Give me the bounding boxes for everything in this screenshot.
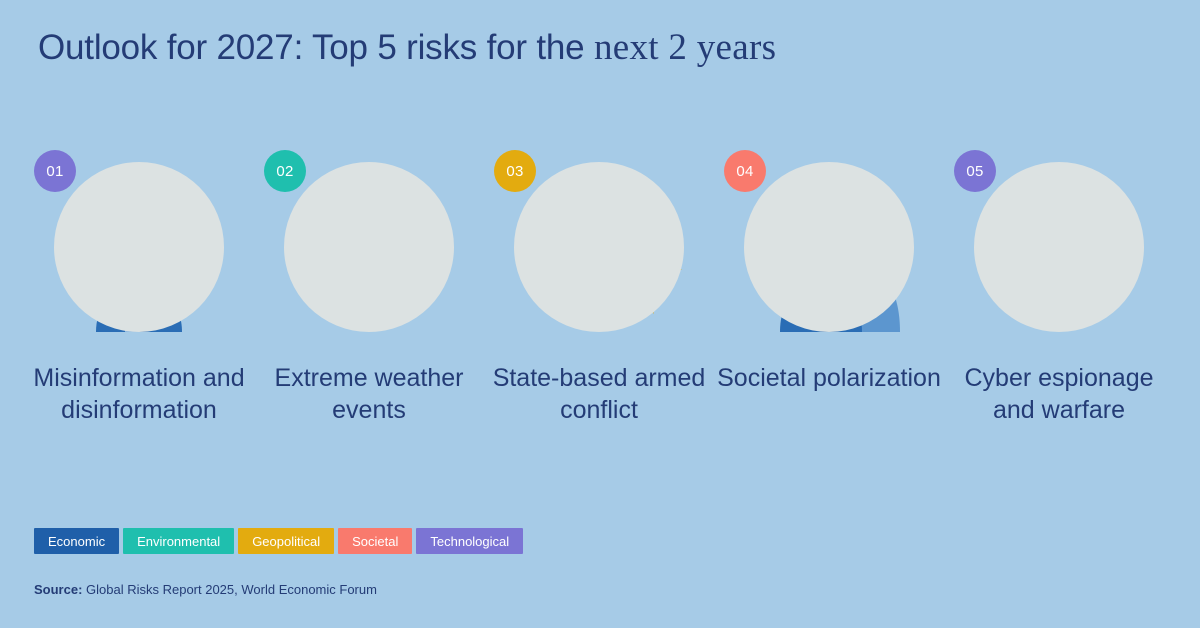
risk-rank-label: 01 [46, 163, 63, 180]
disc-background [974, 162, 1144, 332]
source-text: Global Risks Report 2025, World Economic… [82, 582, 377, 597]
risk-rank-badge: 03 [494, 150, 536, 192]
legend-item-label: Environmental [137, 534, 220, 549]
risk-icon-disc: 03 [514, 162, 684, 332]
legend-item-environmental[interactable]: Environmental [123, 528, 234, 554]
legend-item-label: Geopolitical [252, 534, 320, 549]
disc-background [744, 162, 914, 332]
risk-card[interactable]: 05 Cyber espionage and warfare [944, 150, 1174, 426]
risk-rank-label: 05 [966, 163, 983, 180]
risk-card[interactable]: 02 Extreme weather events [254, 150, 484, 426]
risk-label: Extreme weather events [257, 362, 482, 426]
legend-item-geopolitical[interactable]: Geopolitical [238, 528, 334, 554]
page-title: Outlook for 2027: Top 5 risks for the ne… [38, 26, 776, 69]
risk-card[interactable]: 01 Misinformation and disinformation [24, 150, 254, 426]
disc-background [514, 162, 684, 332]
page-title-main: Outlook for 2027: Top 5 risks for the [38, 28, 594, 67]
risk-label: Cyber espionage and warfare [947, 362, 1172, 426]
risk-icon-disc: 02 [284, 162, 454, 332]
risk-rank-label: 03 [506, 163, 523, 180]
legend-item-economic[interactable]: Economic [34, 528, 119, 554]
risk-icon-disc: 01 [54, 162, 224, 332]
risk-card[interactable]: 03 State-based armed conflict [484, 150, 714, 426]
legend-item-label: Societal [352, 534, 398, 549]
legend-item-label: Economic [48, 534, 105, 549]
risk-icon-disc: 04 [744, 162, 914, 332]
page-title-emphasis: next 2 years [594, 27, 776, 68]
legend-item-societal[interactable]: Societal [338, 528, 412, 554]
legend-item-label: Technological [430, 534, 509, 549]
source-note: Source: Global Risks Report 2025, World … [34, 582, 377, 597]
risk-card[interactable]: 04 Societal polarization [714, 150, 944, 394]
disc-background [284, 162, 454, 332]
risk-icon-disc: 05 [974, 162, 1144, 332]
risk-card-row: 01 Misinformation and disinformation [24, 150, 1176, 426]
category-legend: Economic Environmental Geopolitical Soci… [34, 528, 527, 554]
legend-item-technological[interactable]: Technological [416, 528, 523, 554]
risk-label: State-based armed conflict [487, 362, 712, 426]
risk-label: Misinformation and disinformation [27, 362, 252, 426]
source-prefix: Source: [34, 582, 82, 597]
risk-rank-badge: 02 [264, 150, 306, 192]
risk-rank-badge: 05 [954, 150, 996, 192]
risk-label: Societal polarization [717, 362, 941, 394]
risk-rank-badge: 01 [34, 150, 76, 192]
disc-background [54, 162, 224, 332]
risk-rank-label: 02 [276, 163, 293, 180]
risk-rank-label: 04 [736, 163, 753, 180]
risk-rank-badge: 04 [724, 150, 766, 192]
